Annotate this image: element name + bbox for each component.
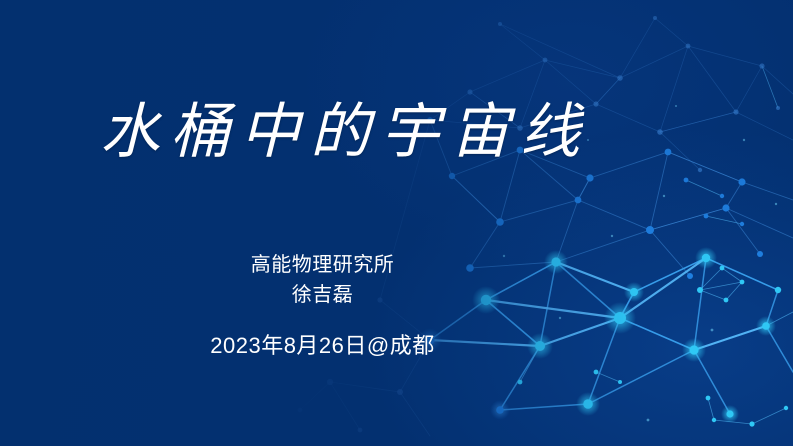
- date-location-text: 2023年8月26日@成都: [0, 331, 645, 361]
- presenter-block: 高能物理研究所 徐吉磊: [0, 250, 645, 310]
- presentation-title-slide: 水桶中的宇宙线 高能物理研究所 徐吉磊 2023年8月26日@成都: [0, 0, 793, 446]
- page-title: 水桶中的宇宙线: [0, 96, 690, 169]
- network-constellation-graphic: [0, 0, 793, 446]
- affiliation-text: 高能物理研究所: [0, 250, 645, 280]
- author-name: 徐吉磊: [0, 280, 645, 310]
- background-shading: [0, 0, 793, 446]
